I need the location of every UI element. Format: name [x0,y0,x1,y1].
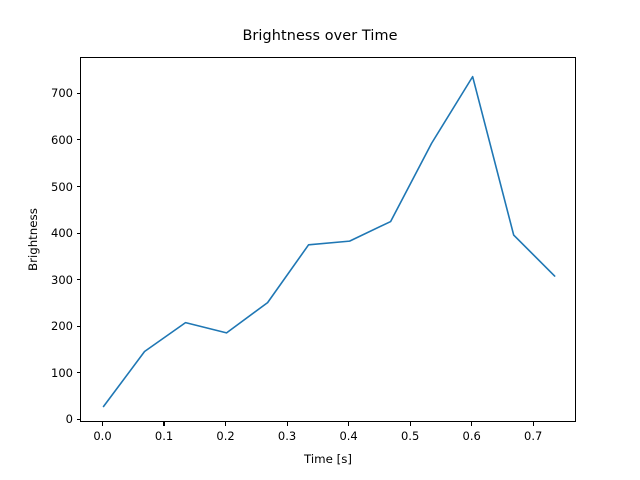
y-tick-label: 500 [30,180,73,194]
x-tick-label: 0.0 [93,429,111,443]
x-tick-label: 0.1 [155,429,173,443]
y-tick-label: 600 [30,133,73,147]
x-tick-label: 0.6 [463,429,481,443]
plot-axes-frame [80,57,576,422]
y-tick-label: 700 [30,86,73,100]
y-tick-label: 100 [30,366,73,380]
x-tick-label: 0.5 [401,429,419,443]
y-tick-label: 0 [30,412,73,426]
x-tick-label: 0.4 [339,429,357,443]
y-tick-label: 200 [30,319,73,333]
y-tick-label: 400 [30,226,73,240]
brightness-line-series [104,77,555,407]
x-axis-label: Time [s] [80,452,576,466]
chart-title: Brightness over Time [0,28,640,44]
x-tick-label: 0.3 [278,429,296,443]
y-tick-label: 300 [30,273,73,287]
plot-area [81,58,577,423]
x-tick-label: 0.2 [216,429,234,443]
matplotlib-figure: Brightness over Time Brightness 01002003… [0,0,640,480]
x-tick-label: 0.7 [524,429,542,443]
